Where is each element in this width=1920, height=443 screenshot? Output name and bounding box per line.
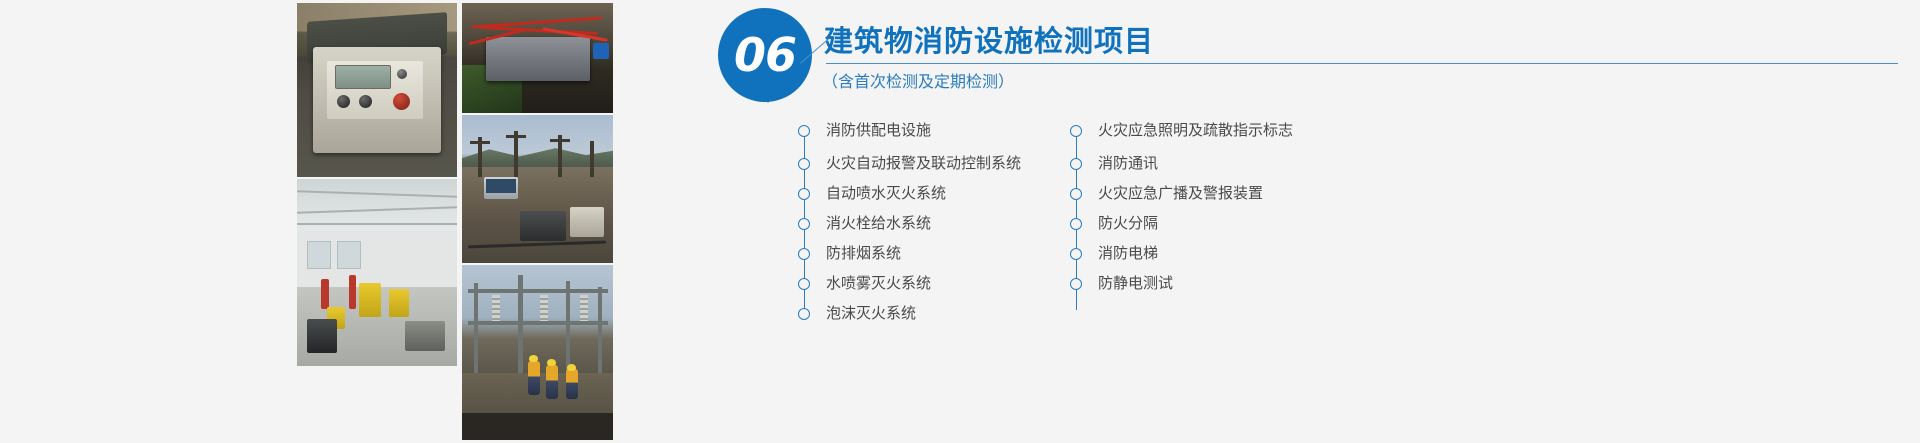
list-item-label: 防静电测试 xyxy=(1098,275,1173,293)
content-panel: 06 建筑物消防设施检测项目 （含首次检测及定期检测） 消防供配电设施 火灾自动… xyxy=(718,0,1898,443)
bullet-circle-icon xyxy=(1070,158,1082,170)
photo-test-instrument-case xyxy=(297,3,457,177)
equipment-case xyxy=(570,207,604,237)
pylon xyxy=(590,141,594,177)
bullet-circle-icon xyxy=(1070,218,1082,230)
yellow-test-unit xyxy=(359,283,381,317)
red-post xyxy=(321,279,329,309)
list-item-label: 火灾自动报警及联动控制系统 xyxy=(826,155,1021,173)
insulator xyxy=(492,295,500,321)
laptop xyxy=(484,177,518,199)
foreground-shadow xyxy=(462,413,613,440)
photo-2-scene xyxy=(462,3,613,113)
bullet-circle-icon xyxy=(798,125,810,137)
photo-3-scene xyxy=(462,115,613,263)
steel-beam xyxy=(468,321,608,325)
hard-hat-icon xyxy=(529,355,538,362)
list-item-label: 防排烟系统 xyxy=(826,245,901,263)
knob-icon xyxy=(397,69,407,79)
bullet-circle-icon xyxy=(1070,248,1082,260)
title-rule xyxy=(826,63,1898,64)
photo-5-scene xyxy=(462,265,613,440)
blue-marker xyxy=(593,43,609,59)
page-title: 建筑物消防设施检测项目 xyxy=(824,18,1154,60)
worker xyxy=(566,369,578,399)
yellow-test-unit xyxy=(389,289,409,317)
steel-column xyxy=(474,283,478,373)
list-item-label: 消防供配电设施 xyxy=(826,122,931,140)
bullet-circle-icon xyxy=(1070,188,1082,200)
test-device xyxy=(307,319,337,353)
pylon-crossarm xyxy=(506,135,526,138)
knob-icon xyxy=(359,95,372,108)
photo-workers-substation-yard xyxy=(462,265,613,440)
list-item-label: 消防通讯 xyxy=(1098,155,1158,173)
photo-indoor-hall-test-gear xyxy=(297,179,457,366)
equipment-case xyxy=(520,211,566,241)
checklist-column-right: 火灾应急照明及疏散指示标志 消防通讯 火灾应急广播及警报装置 防火分隔 消防电梯 xyxy=(1068,112,1568,317)
red-post xyxy=(349,275,356,309)
list-item-label: 火灾应急广播及警报装置 xyxy=(1098,185,1263,203)
window xyxy=(337,241,361,269)
bullet-circle-icon xyxy=(798,308,810,320)
roof-beam xyxy=(297,223,457,225)
page-subtitle: （含首次检测及定期检测） xyxy=(822,68,1014,92)
test-device xyxy=(405,321,445,351)
worker xyxy=(528,361,540,395)
photo-4-scene xyxy=(297,179,457,366)
list-item-label: 火灾应急照明及疏散指示标志 xyxy=(1098,122,1293,140)
badge-bubble: 06 xyxy=(718,8,812,102)
bullet-circle-icon xyxy=(798,218,810,230)
photo-outdoor-substation-site xyxy=(462,115,613,263)
steel-beam xyxy=(468,289,608,293)
equipment-box xyxy=(486,37,590,81)
pylon-crossarm xyxy=(550,139,570,142)
list-item-label: 水喷雾灭火系统 xyxy=(826,275,931,293)
list-item-label: 防火分隔 xyxy=(1098,215,1158,233)
window xyxy=(307,241,331,269)
bullet-circle-icon xyxy=(798,188,810,200)
list-item-label: 自动喷水灭火系统 xyxy=(826,185,946,203)
steel-column xyxy=(566,281,570,373)
ground-cable xyxy=(468,241,606,249)
photo-red-cabling-equipment xyxy=(462,3,613,113)
insulator xyxy=(580,295,588,321)
bullet-circle-icon xyxy=(798,158,810,170)
instrument-screen xyxy=(335,65,391,89)
list-item-label: 消火栓给水系统 xyxy=(826,215,931,233)
insulator xyxy=(540,295,548,321)
pylon-crossarm xyxy=(470,141,490,144)
page-root: 06 建筑物消防设施检测项目 （含首次检测及定期检测） 消防供配电设施 火灾自动… xyxy=(0,0,1920,443)
bullet-circle-icon xyxy=(1070,125,1082,137)
checklist-columns: 消防供配电设施 火灾自动报警及联动控制系统 自动喷水灭火系统 消火栓给水系统 防… xyxy=(796,112,1896,322)
red-knob-icon xyxy=(393,93,410,110)
list-item-label: 消防电梯 xyxy=(1098,245,1158,263)
photo-1-scene xyxy=(297,3,457,177)
hard-hat-icon xyxy=(567,364,576,371)
photo-collage xyxy=(297,3,613,440)
steel-column xyxy=(598,287,602,373)
bullet-circle-icon xyxy=(798,278,810,290)
worker xyxy=(546,365,558,399)
knob-icon xyxy=(337,95,350,108)
badge-number: 06 xyxy=(718,8,812,102)
list-item-label: 泡沫灭火系统 xyxy=(826,305,916,323)
bullet-circle-icon xyxy=(798,248,810,260)
hard-hat-icon xyxy=(547,359,556,366)
bullet-circle-icon xyxy=(1070,278,1082,290)
